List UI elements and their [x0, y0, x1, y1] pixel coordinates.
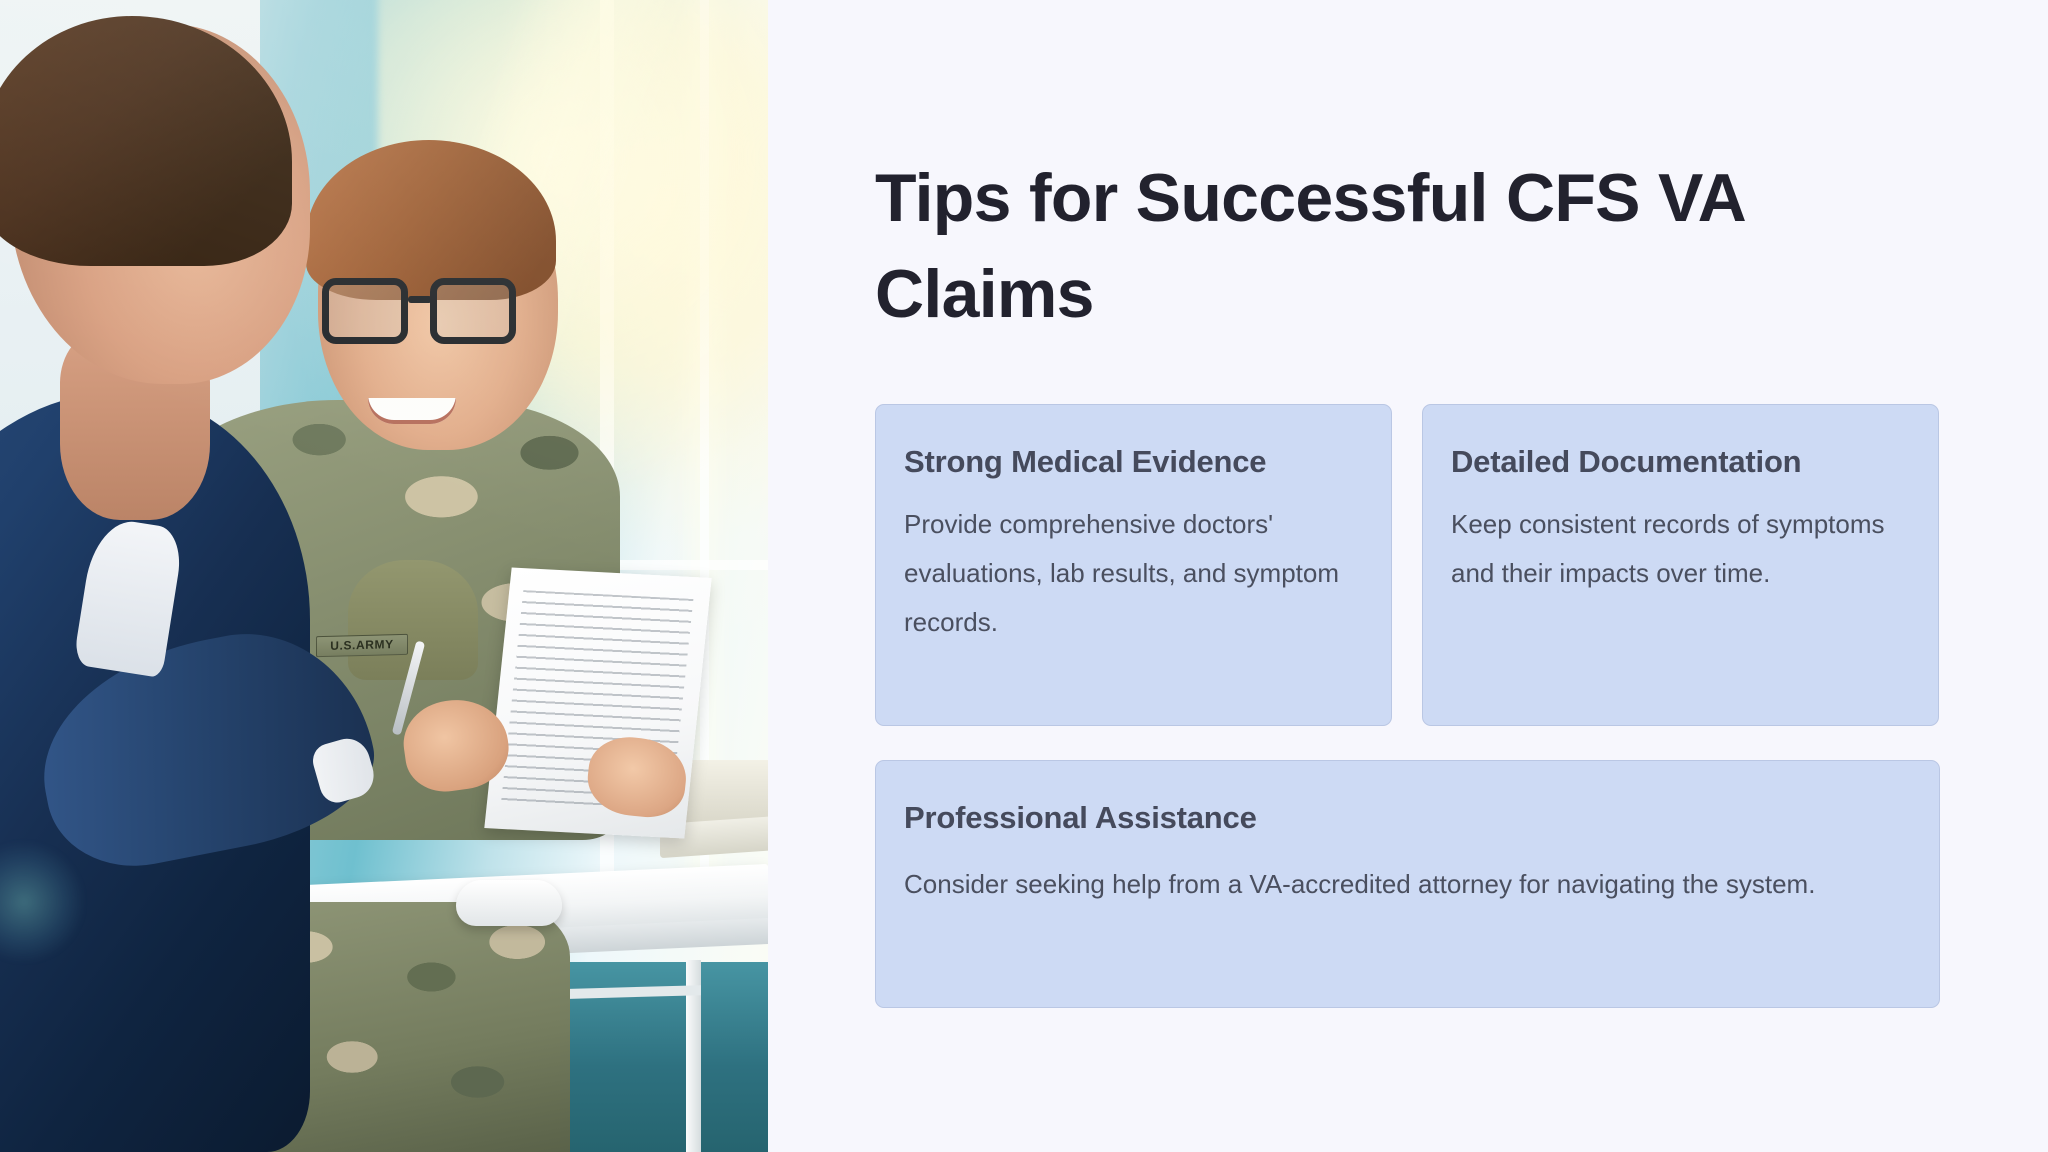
tip-card-body: Consider seeking help from a VA-accredit…: [904, 860, 1911, 909]
photo-lens-flare: [0, 842, 84, 962]
tip-card-title: Detailed Documentation: [1451, 437, 1910, 486]
page-title: Tips for Successful CFS VA Claims: [875, 150, 1885, 342]
photo-eyeglasses-right-lens: [430, 278, 516, 344]
tip-card-body: Provide comprehensive doctors' evaluatio…: [904, 500, 1363, 647]
tips-row-second: Professional Assistance Consider seeking…: [875, 760, 1940, 1008]
photo-window-mullion-3: [600, 560, 768, 570]
tip-card-strong-medical-evidence[interactable]: Strong Medical Evidence Provide comprehe…: [875, 404, 1392, 726]
slide-root: MEDICAL U.S.ARMY Tips for Successful CFS…: [0, 0, 2048, 1152]
tip-card-title: Professional Assistance: [904, 793, 1911, 842]
tips-row-first: Strong Medical Evidence Provide comprehe…: [875, 404, 1940, 726]
photo-uniform-branch-tape: U.S.ARMY: [316, 634, 408, 657]
tip-card-body: Keep consistent records of symptoms and …: [1451, 500, 1910, 598]
photo-soldier-smile: [368, 398, 456, 424]
tips-card-grid: Strong Medical Evidence Provide comprehe…: [875, 404, 1940, 1008]
photo-computer-mouse: [456, 880, 562, 926]
hero-photo: MEDICAL U.S.ARMY: [0, 0, 768, 1152]
tip-card-detailed-documentation[interactable]: Detailed Documentation Keep consistent r…: [1422, 404, 1939, 726]
tip-card-professional-assistance[interactable]: Professional Assistance Consider seeking…: [875, 760, 1940, 1008]
tip-card-title: Strong Medical Evidence: [904, 437, 1363, 486]
photo-eyeglasses-left-lens: [322, 278, 408, 344]
content-panel: Tips for Successful CFS VA Claims Strong…: [768, 0, 2048, 1152]
photo-eyeglasses-bridge: [408, 296, 432, 303]
